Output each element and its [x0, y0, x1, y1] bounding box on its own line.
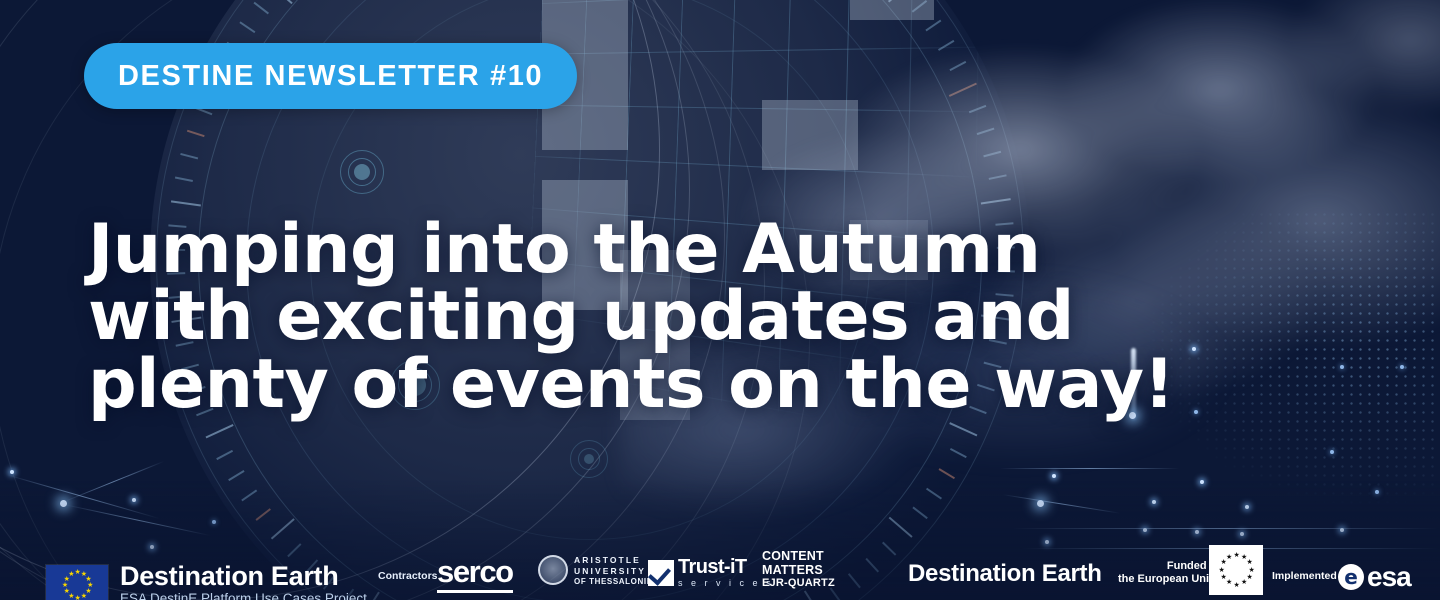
headline-line-2: with exciting updates and [88, 283, 1088, 350]
eu-flag-icon-white: ★★★★★★★★★★★★ [1209, 545, 1263, 595]
page-title: Jumping into the Autumn with exciting up… [88, 216, 1088, 418]
contractors-label: Contractors [378, 570, 438, 582]
funded-by-eu-label: Funded by the European Union [1118, 560, 1223, 586]
aristotle-university-logo: ARISTOTLE UNIVERSITY OF THESSALONIKI [538, 555, 656, 586]
aristotle-line-1: ARISTOTLE [574, 555, 656, 565]
halftone-dots [1140, 210, 1440, 510]
destination-earth-logo: ★★★★★★★★★★★★ Destination Earth ESA Desti… [46, 563, 367, 600]
aristotle-line-2: UNIVERSITY [574, 566, 656, 576]
trust-it-logo: Trust-iT s e r v i c e s [648, 557, 774, 588]
trust-it-name: Trust-iT [678, 557, 774, 577]
newsletter-banner: DESTINE NEWSLETTER #10 Jumping into the … [0, 0, 1440, 600]
esa-logo: esa [1338, 563, 1411, 591]
checkmark-icon [648, 560, 674, 586]
aristotle-line-3: OF THESSALONIKI [574, 577, 656, 586]
serco-logo: serco [437, 554, 513, 590]
destination-earth-title: Destination Earth [120, 563, 367, 590]
footer-logo-bar: ★★★★★★★★★★★★ Destination Earth ESA Desti… [0, 542, 1440, 600]
eu-flag-icon: ★★★★★★★★★★★★ [46, 565, 108, 600]
destination-earth-wordmark-right: Destination Earth [908, 560, 1102, 588]
headline-line-3: plenty of events on the way! [88, 351, 1088, 418]
destination-earth-subtitle: ESA DestinE Platform Use Cases Project [120, 591, 367, 600]
content-matters-line-3: EJR-QUARTZ [762, 577, 835, 589]
newsletter-badge-label: DESTINE NEWSLETTER #10 [118, 60, 543, 93]
esa-mark-icon [1338, 564, 1364, 590]
content-matters-logo: CONTENT MATTERS EJR-QUARTZ [762, 549, 835, 589]
funded-line-2: the European Union [1118, 573, 1223, 586]
newsletter-badge[interactable]: DESTINE NEWSLETTER #10 [84, 43, 577, 109]
aristotle-seal-icon [538, 555, 568, 585]
headline-line-1: Jumping into the Autumn [88, 216, 1088, 283]
esa-wordmark: esa [1367, 563, 1411, 591]
serco-wordmark: serco [437, 554, 513, 593]
content-matters-line-1: CONTENT [762, 549, 835, 563]
funded-line-1: Funded by [1118, 560, 1223, 573]
content-matters-line-2: MATTERS [762, 563, 835, 577]
trust-it-sub: s e r v i c e s [678, 578, 774, 588]
